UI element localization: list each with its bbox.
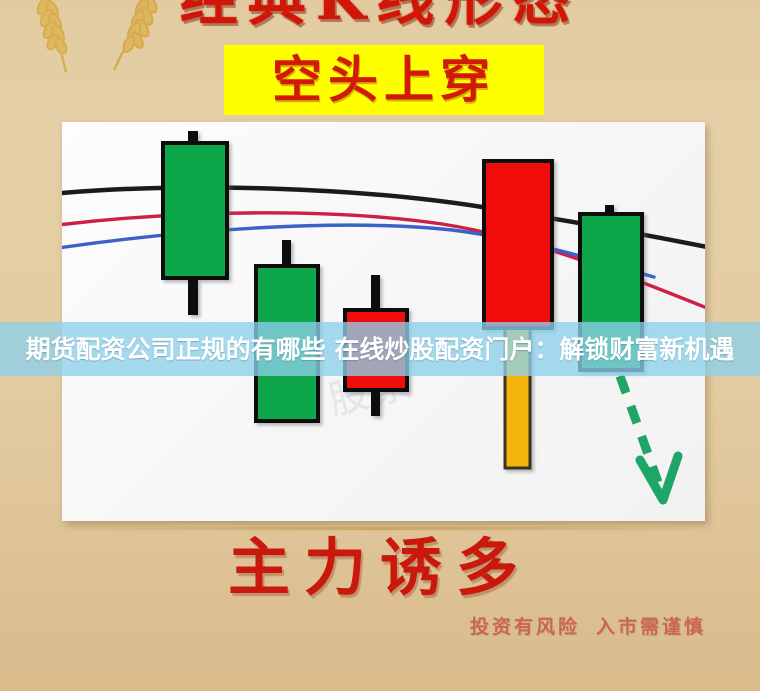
pattern-name-banner: 空头上穿: [224, 45, 544, 115]
headline-overlay-band: 期货配资公司正规的有哪些 在线炒股配资门户：解锁财富新机遇: [0, 322, 760, 376]
poster-canvas: 经典K线形态 空头上穿 股票: [0, 0, 760, 691]
poster-caption: 主力诱多: [0, 527, 760, 609]
candle-1: [163, 131, 227, 315]
poster-title: 经典K线形态: [0, 0, 760, 32]
headline-text: 期货配资公司正规的有哪些 在线炒股配资门户：解锁财富新机遇: [26, 337, 735, 362]
ma-line-short: [62, 225, 654, 277]
down-arrow-icon: [620, 376, 678, 500]
risk-disclaimer-right: 入市需谨慎: [596, 616, 706, 638]
risk-disclaimer: 投资有风险入市需谨慎: [470, 611, 720, 643]
candle-4: [484, 161, 552, 468]
pattern-name-label: 空头上穿: [272, 55, 496, 105]
risk-disclaimer-left: 投资有风险: [470, 616, 580, 638]
